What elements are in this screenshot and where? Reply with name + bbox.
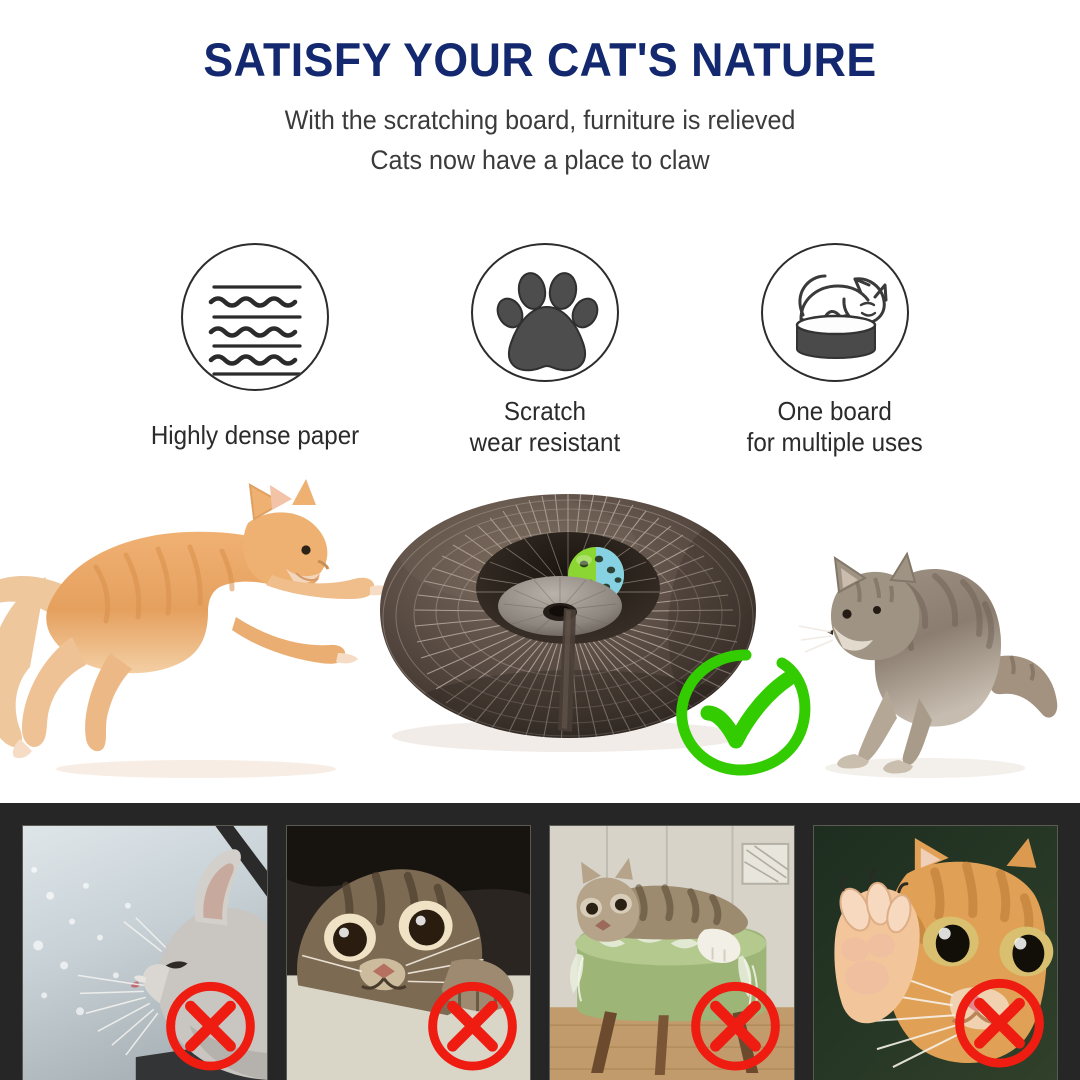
- feature-label-line-1: One board: [747, 396, 923, 427]
- page-title: SATISFY YOUR CAT'S NATURE: [27, 32, 1053, 87]
- feature-label-line-1: Scratch: [470, 396, 621, 427]
- dense-paper-layers-icon: [181, 243, 329, 391]
- feature-item-dense-paper: Highly dense paper: [110, 243, 400, 458]
- product-infographic: SATISFY YOUR CAT'S NATURE With the scrat…: [0, 0, 1080, 1080]
- hero-photo-band: [0, 455, 1080, 803]
- feature-label-scratch-resistant: Scratch wear resistant: [470, 396, 621, 458]
- feature-label-dense-paper: Highly dense paper: [151, 420, 359, 451]
- leaping-orange-kitten-photo: [0, 457, 406, 787]
- problem-photo-grid: [22, 825, 1058, 1080]
- feature-label-multiple-uses: One board for multiple uses: [747, 396, 923, 458]
- problem-panel-orange-cat-raised-paw: [813, 825, 1059, 1080]
- feature-item-multiple-uses: One board for multiple uses: [690, 243, 980, 458]
- cat-resting-on-board-icon: [761, 243, 909, 382]
- subtitle-line-1: With the scratching board, furniture is …: [38, 105, 1042, 136]
- feature-list: Highly dense paper Scratch wear res: [110, 243, 980, 458]
- problem-photo-strip: [0, 803, 1080, 1080]
- feature-label-line-2: wear resistant: [470, 427, 621, 458]
- feature-label-line-1: Highly dense paper: [151, 420, 359, 451]
- green-check-circle-badge: [664, 643, 814, 783]
- feature-label-line-2: for multiple uses: [747, 427, 923, 458]
- crouching-tabby-kitten-photo: [795, 530, 1075, 785]
- problem-panel-tabby-face-peeking: [286, 825, 532, 1080]
- paw-print-icon: [471, 243, 619, 382]
- problem-panel-scratched-green-chair: [549, 825, 795, 1080]
- feature-item-scratch-resistant: Scratch wear resistant: [400, 243, 690, 458]
- problem-panel-gray-cat-window: [22, 825, 268, 1080]
- subtitle-line-2: Cats now have a place to claw: [38, 145, 1042, 176]
